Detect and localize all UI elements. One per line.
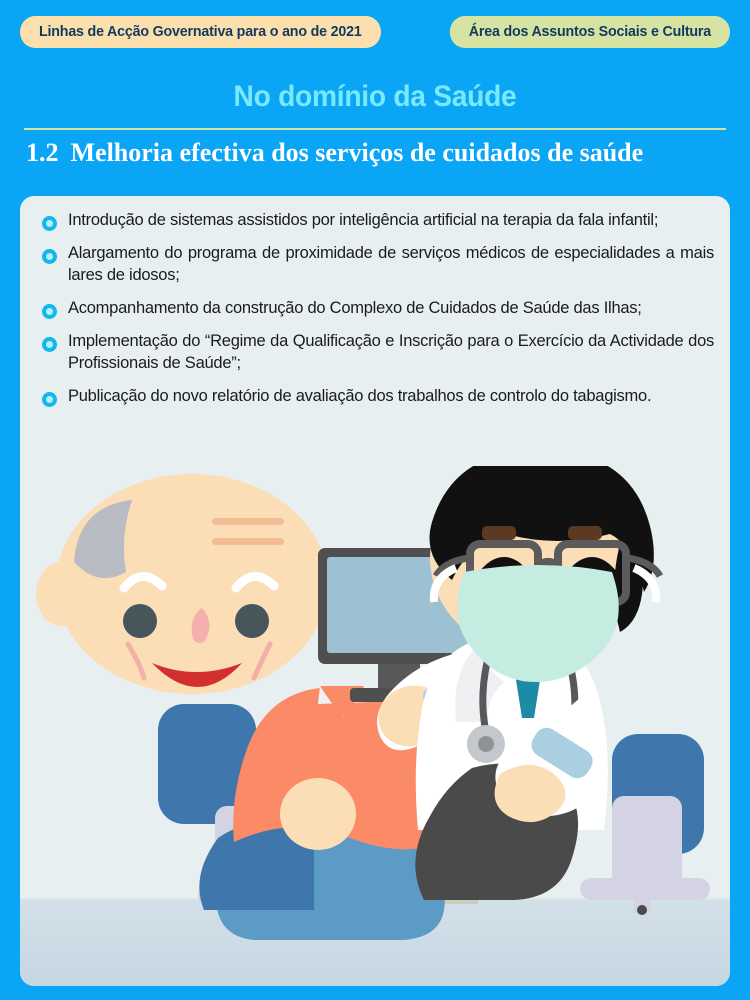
- list-item: Alargamento do programa de proximidade d…: [42, 243, 714, 287]
- badge-government-action-lines: Linhas de Acção Governativa para o ano d…: [20, 16, 381, 48]
- poster-page: Linhas de Acção Governativa para o ano d…: [0, 0, 750, 1000]
- chair-base-doctor: [580, 878, 710, 900]
- stethoscope-bell-inner: [478, 736, 494, 752]
- patient-eye-right: [235, 604, 269, 638]
- page-title: No domínio da Saúde: [23, 80, 728, 114]
- patient-wrinkle-1: [212, 518, 284, 525]
- doctor-eyebrow-right: [568, 526, 602, 540]
- section-heading: 1.2Melhoria efectiva dos serviços de cui…: [26, 138, 730, 168]
- bullet-ring-icon: [42, 392, 57, 407]
- patient-head: [56, 474, 328, 694]
- list-item: Publicação do novo relatório de avaliaçã…: [42, 386, 714, 408]
- bullet-ring-icon: [42, 216, 57, 231]
- section-number: 1.2: [26, 138, 59, 167]
- list-item-label: Publicação do novo relatório de avaliaçã…: [68, 386, 651, 408]
- bullet-ring-icon: [42, 337, 57, 352]
- bullet-list: Introdução de sistemas assistidos por in…: [42, 210, 714, 419]
- doctor-eyebrow-left: [482, 526, 516, 540]
- title-divider: [24, 128, 726, 130]
- illustration-svg: [20, 466, 730, 986]
- illustration-doctor-patient: [20, 466, 730, 986]
- list-item-label: Implementação do “Regime da Qualificação…: [68, 331, 714, 375]
- section-title-text: Melhoria efectiva dos serviços de cuidad…: [71, 138, 644, 167]
- patient-hand-left: [280, 778, 356, 850]
- bullet-ring-icon: [42, 304, 57, 319]
- list-item: Introdução de sistemas assistidos por in…: [42, 210, 714, 232]
- list-item: Implementação do “Regime da Qualificação…: [42, 331, 714, 375]
- chair-wheel-hub-doctor: [637, 905, 647, 915]
- content-card: Introdução de sistemas assistidos por in…: [20, 196, 730, 986]
- list-item: Acompanhamento da construção do Complexo…: [42, 298, 714, 320]
- badge-social-affairs-culture: Área dos Assuntos Sociais e Cultura: [450, 16, 730, 48]
- patient-eye-left: [123, 604, 157, 638]
- badge-row: Linhas de Acção Governativa para o ano d…: [20, 16, 730, 48]
- list-item-label: Introdução de sistemas assistidos por in…: [68, 210, 658, 232]
- chair-column-doctor: [612, 796, 682, 892]
- list-item-label: Acompanhamento da construção do Complexo…: [68, 298, 642, 320]
- patient-gray-hair: [74, 500, 132, 578]
- patient-wrinkle-2: [212, 538, 284, 545]
- list-item-label: Alargamento do programa de proximidade d…: [68, 243, 714, 287]
- bullet-ring-icon: [42, 249, 57, 264]
